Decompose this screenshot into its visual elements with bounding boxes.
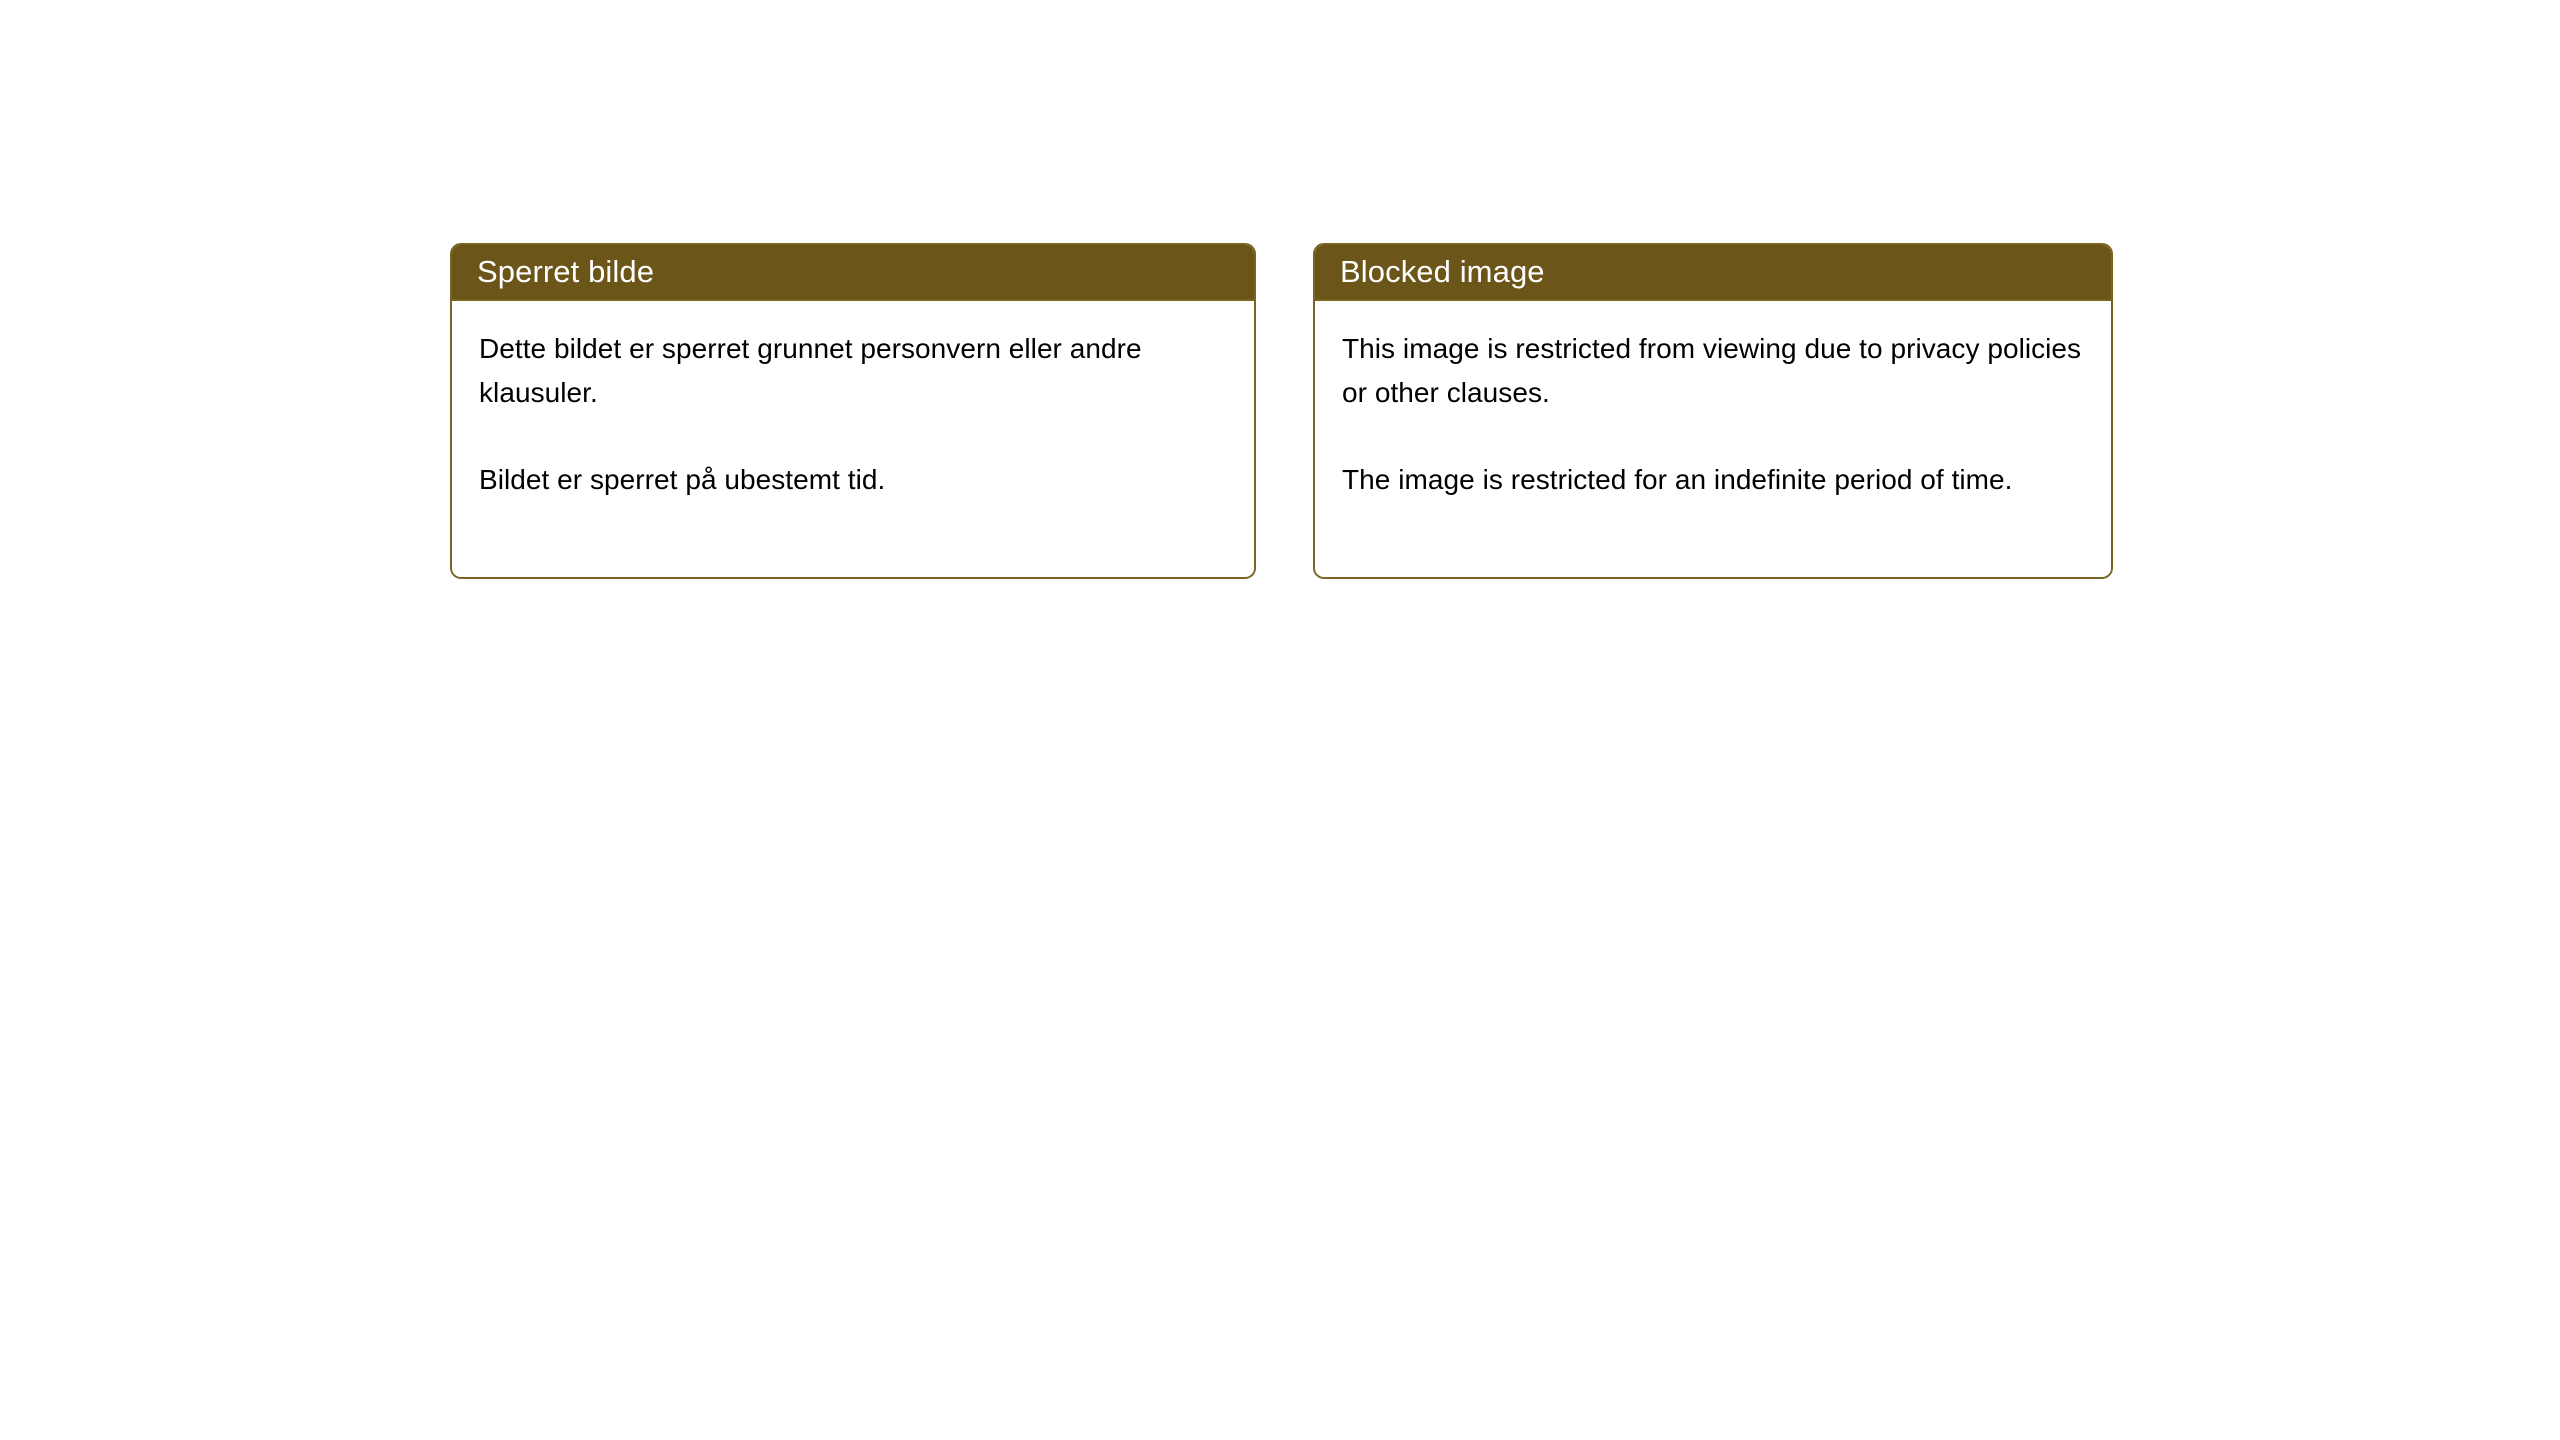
notice-paragraph-duration-norwegian: Bildet er sperret på ubestemt tid.	[479, 458, 1234, 502]
notice-card-title-english: Blocked image	[1340, 255, 1545, 289]
blocked-image-notice-card-english: Blocked image This image is restricted f…	[1313, 243, 2113, 579]
page-canvas: Sperret bilde Dette bildet er sperret gr…	[0, 0, 2560, 1440]
notice-paragraph-reason-english: This image is restricted from viewing du…	[1342, 327, 2091, 415]
notice-card-header-norwegian: Sperret bilde	[452, 245, 1254, 301]
notice-paragraph-reason-norwegian: Dette bildet er sperret grunnet personve…	[479, 327, 1234, 415]
blocked-image-notice-card-norwegian: Sperret bilde Dette bildet er sperret gr…	[450, 243, 1256, 579]
notice-card-body-english: This image is restricted from viewing du…	[1315, 301, 2111, 575]
notice-card-body-norwegian: Dette bildet er sperret grunnet personve…	[452, 301, 1254, 575]
notice-card-header-english: Blocked image	[1315, 245, 2111, 301]
notice-card-title-norwegian: Sperret bilde	[477, 255, 654, 289]
notice-paragraph-duration-english: The image is restricted for an indefinit…	[1342, 458, 2091, 502]
